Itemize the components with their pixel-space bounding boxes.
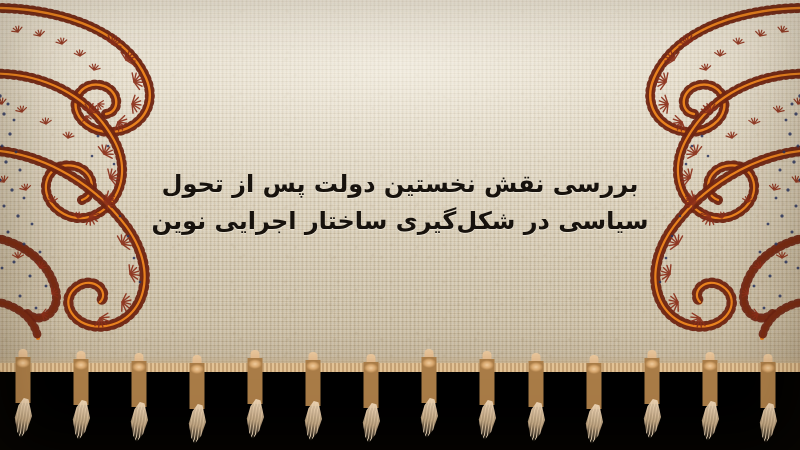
tassel-brush [521, 401, 550, 444]
tassel [182, 363, 212, 450]
ornament-tail-curls-mirrored [744, 236, 800, 338]
tassel-brush [124, 401, 153, 444]
tassel [521, 361, 551, 450]
tassel [298, 360, 328, 450]
tassel-brush [695, 400, 724, 443]
tassel-brush [637, 398, 666, 441]
tassel-brush [240, 398, 269, 441]
lower-black-field [0, 372, 800, 450]
tassel-brush [472, 399, 501, 442]
tassel [124, 361, 154, 450]
title-line-2: سیاسی در شکل‌گیری ساختار اجرایی نوین [150, 203, 650, 240]
ornament-tail-curls [0, 236, 56, 338]
tassel [472, 359, 502, 449]
tassel-brush [182, 403, 211, 446]
tassel [66, 359, 96, 449]
tassel-brush [356, 402, 385, 445]
title-line-1: بررسی نقش نخستین دولت پس از تحول [150, 166, 650, 203]
tassel [695, 360, 725, 450]
tassel-brush [298, 400, 327, 443]
tassel-brush [579, 403, 608, 446]
tassel-fringe [0, 360, 800, 450]
ornament-outer-scroll [0, 8, 150, 132]
tassel-brush [8, 397, 37, 440]
tassel-brush [414, 397, 443, 440]
tassel [579, 363, 609, 450]
slide-title: بررسی نقش نخستین دولت پس از تحول سیاسی د… [0, 166, 800, 240]
tassel-brush [753, 402, 782, 445]
fabric-hem-threads [0, 363, 800, 372]
tassel [753, 362, 783, 450]
tassel-brush [66, 399, 95, 442]
ornament-outer-scroll-mirrored [650, 8, 800, 132]
tassel [356, 362, 386, 450]
title-card-slide: بررسی نقش نخستین دولت پس از تحول سیاسی د… [0, 0, 800, 450]
